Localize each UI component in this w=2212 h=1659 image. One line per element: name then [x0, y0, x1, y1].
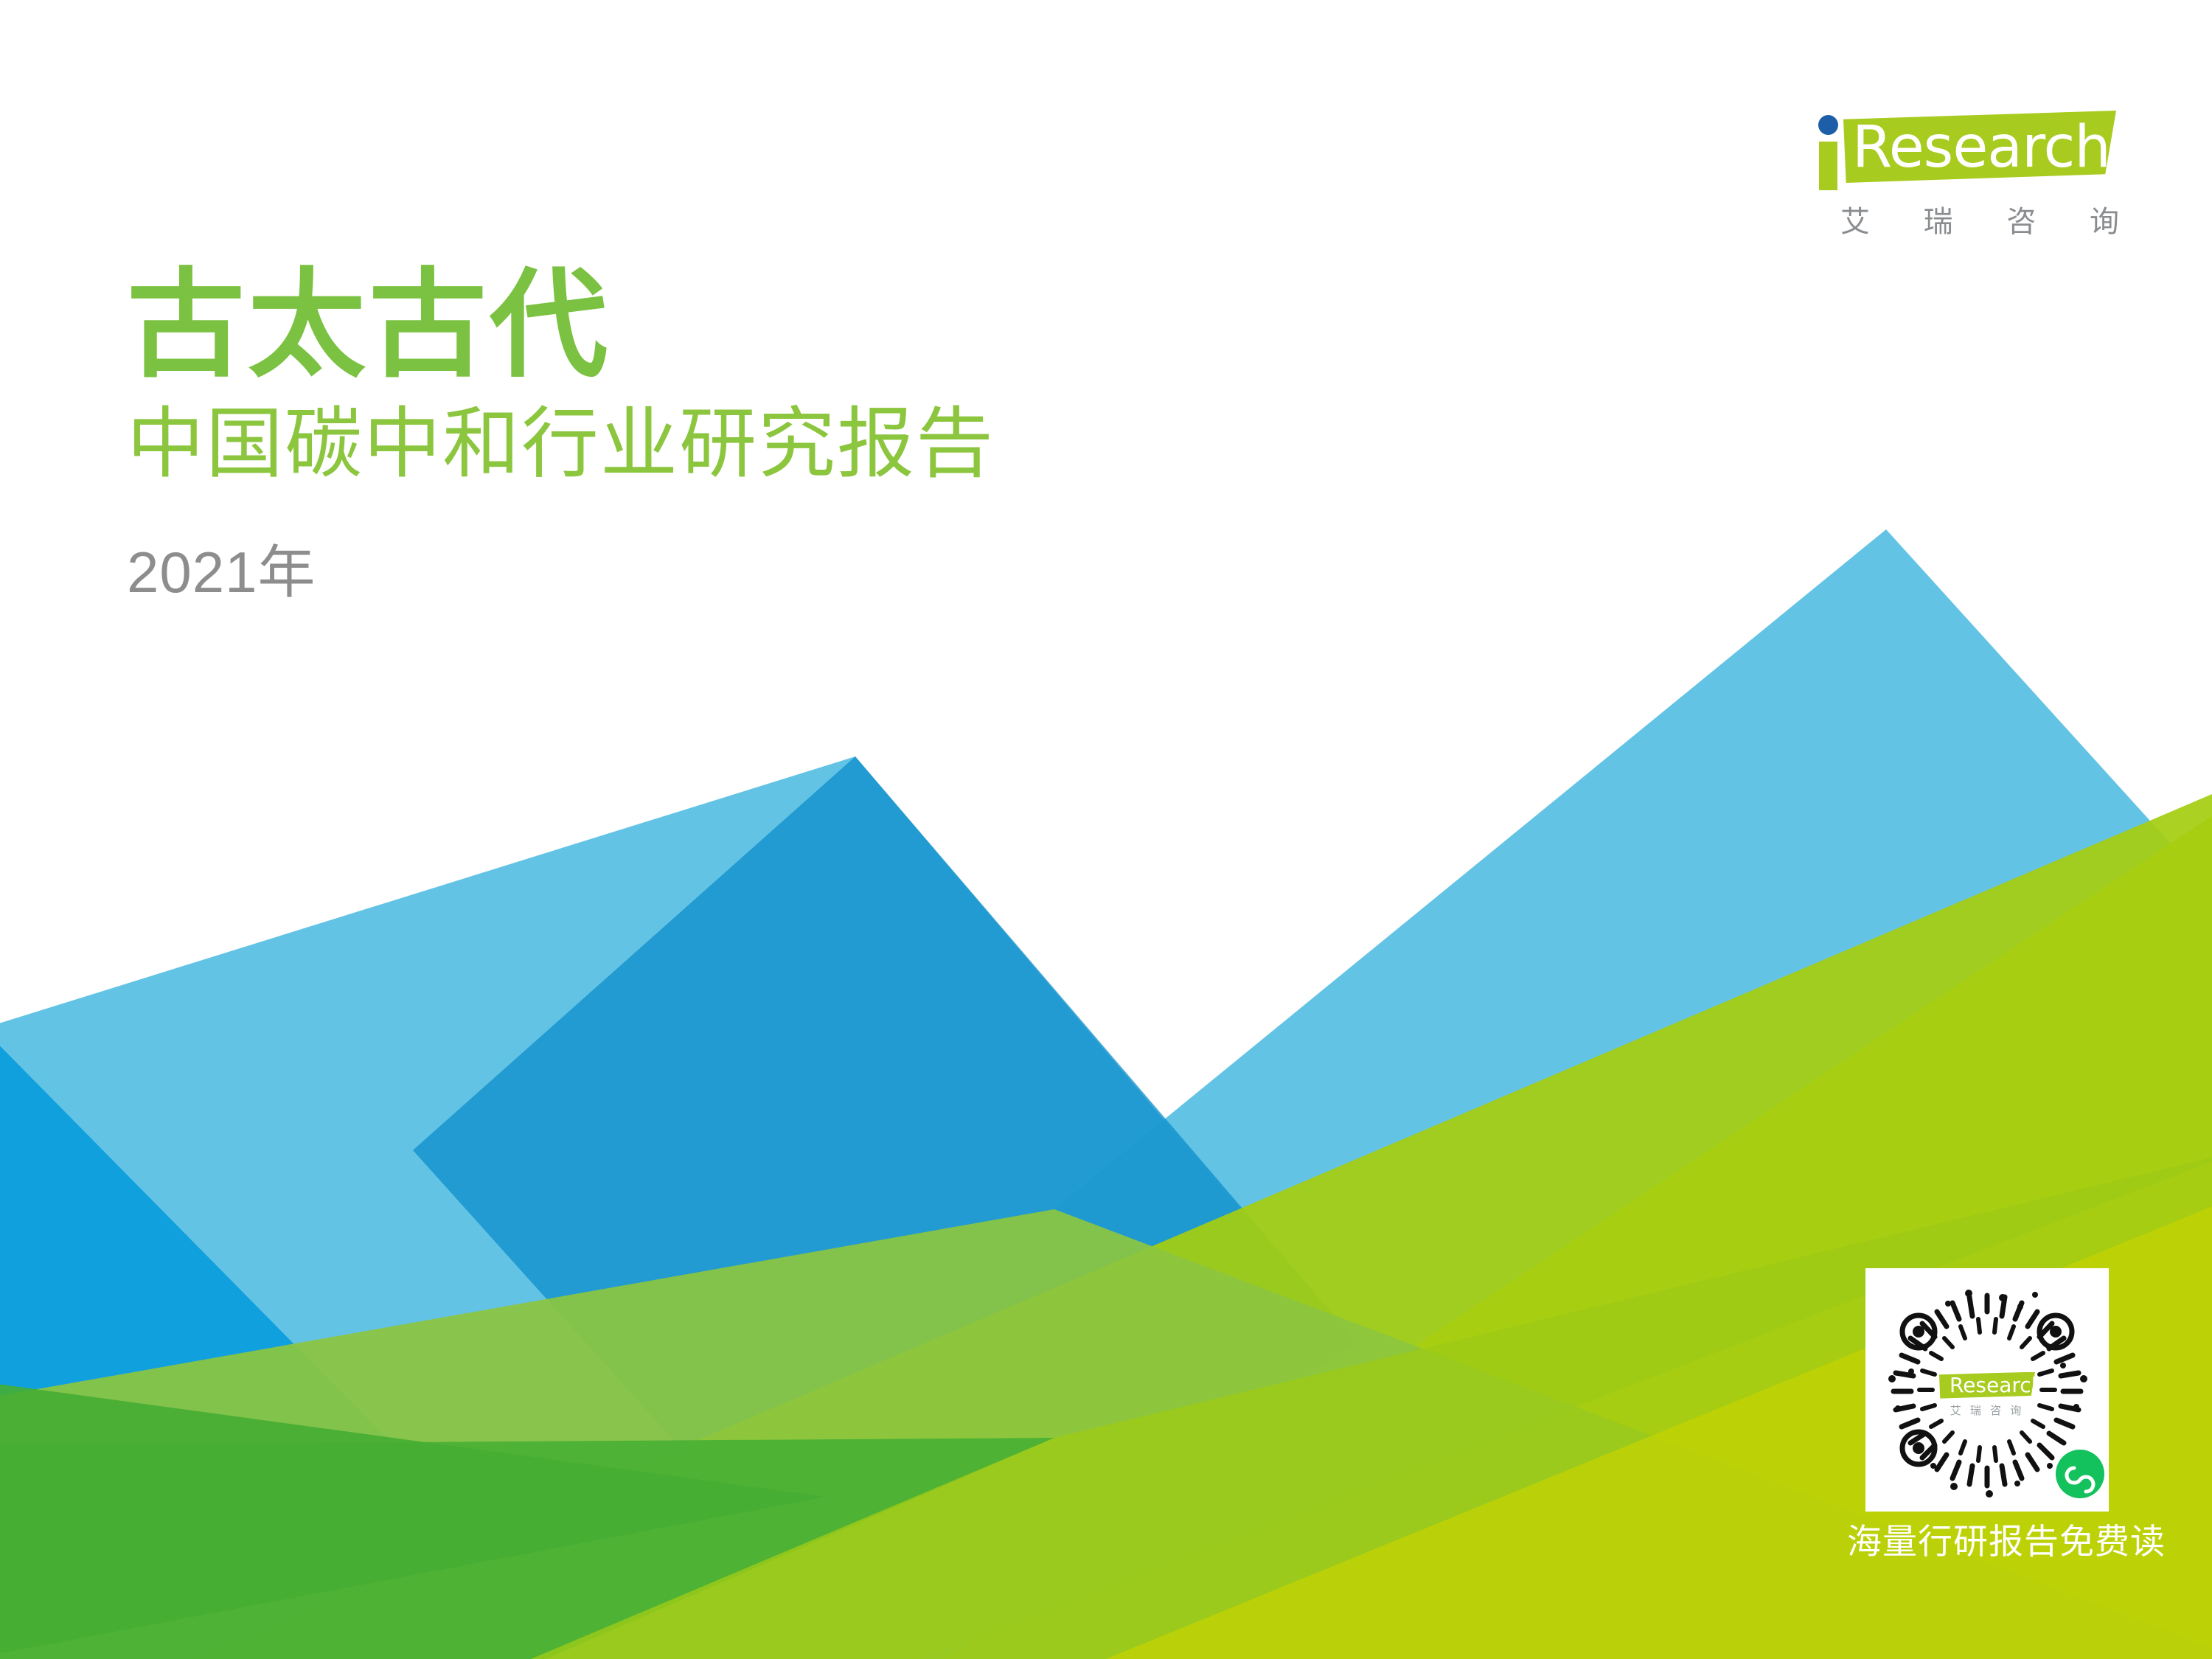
wechat-mini-program-icon	[2056, 1450, 2104, 1498]
logo-cn-char-3: 咨	[2006, 198, 2037, 240]
qr-caption: 海量行研报告免费读	[1847, 1520, 2127, 1563]
logo-cn-char-4: 询	[2090, 198, 2121, 240]
year-label: 2021年	[127, 539, 995, 605]
logo-mark: Research	[1806, 103, 2116, 192]
qr-card[interactable]: Research 艾 瑞 咨 询	[1865, 1268, 2109, 1512]
logo-chinese-name: 艾 瑞 咨 询	[1840, 198, 2121, 240]
iresearch-logo: Research 艾 瑞 咨 询	[1806, 103, 2116, 251]
report-cover-slide: Research 艾 瑞 咨 询 古太古代 中国碳中和行业研究报告 2021年	[0, 0, 2212, 1659]
page-subtitle: 中国碳中和行业研究报告	[127, 399, 995, 490]
logo-wordmark: Research	[1852, 114, 2110, 181]
title-block: 古太古代 中国碳中和行业研究报告 2021年	[127, 262, 995, 605]
logo-dot-icon	[1818, 115, 1838, 135]
qr-block: Research 艾 瑞 咨 询 海量行研报告免费读	[1847, 1268, 2127, 1563]
logo-cn-char-2: 瑞	[1924, 198, 1955, 240]
logo-cn-char-1: 艾	[1840, 198, 1871, 240]
logo-i-stem	[1819, 142, 1837, 190]
page-title: 古太古代	[127, 262, 995, 389]
